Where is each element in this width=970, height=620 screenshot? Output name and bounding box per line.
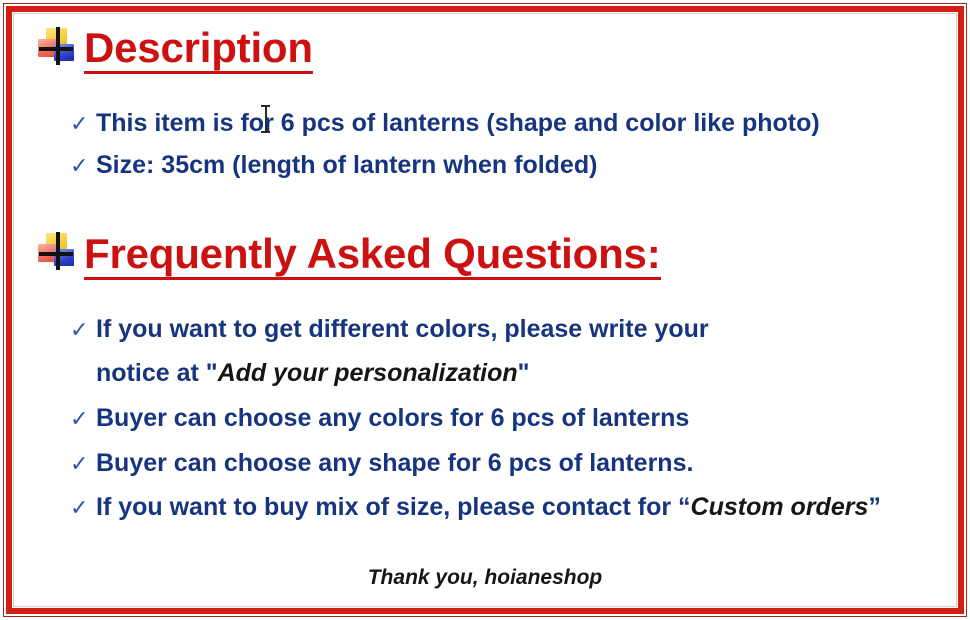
check-icon: ✓ [70, 407, 87, 431]
footer-signature: Thank you, hoianeshop [0, 566, 970, 590]
faq-bullet-1-personalization-emphasis: Add your personalization [218, 359, 518, 387]
faq-bullet-1-continuation-prefix: notice at " [96, 359, 218, 387]
check-icon: ✓ [70, 154, 87, 178]
description-bullet-1: ✓ This item is for 6 pcs of lanterns (sh… [70, 110, 820, 138]
faq-bullet-1-label: If you want to get different colors, ple… [96, 316, 709, 344]
office-cross-horizontal-bar [39, 252, 73, 256]
heading-description-label: Description [84, 27, 313, 74]
description-bullet-2: ✓ Size: 35cm (length of lantern when fol… [70, 152, 597, 180]
faq-bullet-2-label: Buyer can choose any colors for 6 pcs of… [96, 405, 689, 433]
faq-bullet-4: ✓ If you want to buy mix of size, please… [70, 494, 881, 522]
description-bullet-1-label: This item is for 6 pcs of lanterns (shap… [96, 110, 820, 138]
office-cross-icon [37, 232, 75, 270]
card-content: Description ✓ This item is for 6 pcs of … [0, 0, 970, 620]
faq-bullet-1-continuation: notice at "Add your personalization" [96, 360, 530, 388]
heading-faq: Frequently Asked Questions: [84, 230, 661, 280]
faq-bullet-4-suffix: ” [868, 494, 881, 522]
faq-bullet-4-prefix: If you want to buy mix of size, please c… [96, 494, 691, 522]
faq-bullet-3-label: Buyer can choose any shape for 6 pcs of … [96, 450, 693, 478]
check-icon: ✓ [70, 112, 87, 136]
faq-bullet-2: ✓ Buyer can choose any colors for 6 pcs … [70, 405, 689, 433]
text-cursor-top-cap [261, 105, 270, 107]
faq-bullet-3: ✓ Buyer can choose any shape for 6 pcs o… [70, 450, 693, 478]
listing-description-card: Description ✓ This item is for 6 pcs of … [0, 0, 970, 620]
office-cross-icon [37, 27, 75, 65]
check-icon: ✓ [70, 318, 87, 342]
faq-bullet-1-continuation-suffix: " [518, 359, 530, 387]
faq-bullet-1: ✓ If you want to get different colors, p… [70, 316, 709, 344]
check-icon: ✓ [70, 496, 87, 520]
heading-description: Description [84, 24, 313, 74]
office-cross-vertical-bar [56, 27, 60, 65]
faq-bullet-4-custom-orders-emphasis: Custom orders [691, 494, 869, 522]
description-bullet-2-label: Size: 35cm (length of lantern when folde… [96, 152, 597, 180]
heading-faq-label: Frequently Asked Questions: [84, 233, 661, 280]
office-cross-horizontal-bar [39, 47, 73, 51]
office-cross-vertical-bar [56, 232, 60, 270]
check-icon: ✓ [70, 452, 87, 476]
